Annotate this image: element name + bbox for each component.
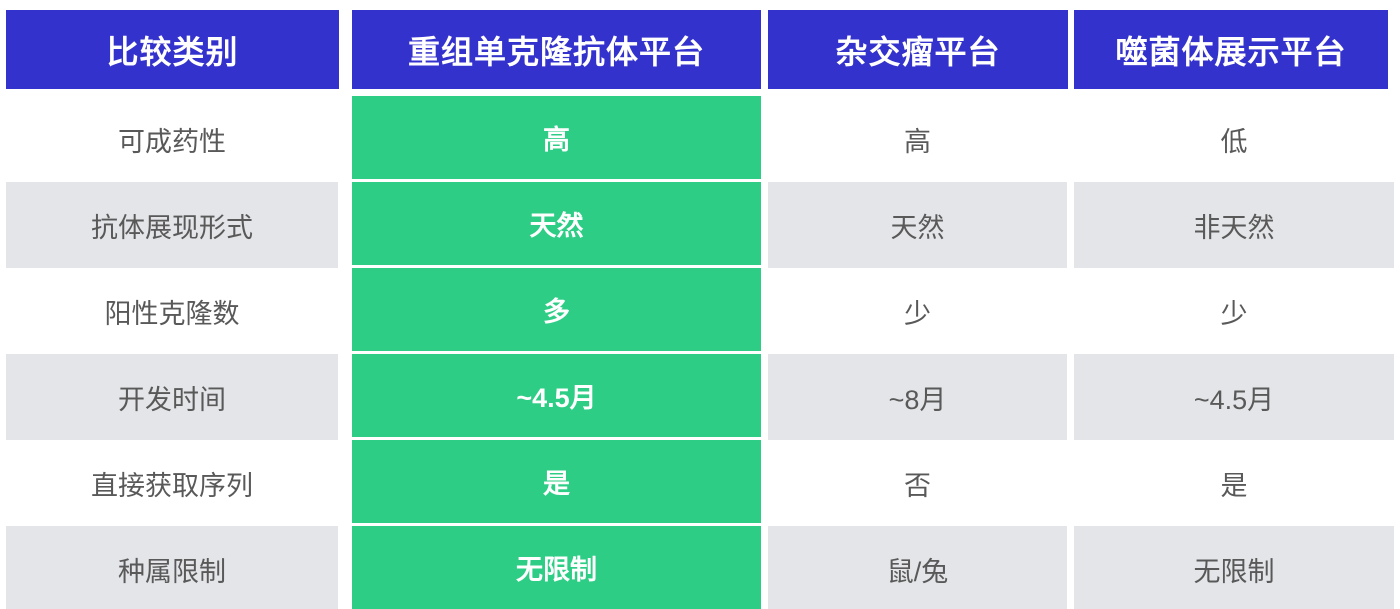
row-label-cell: 种属限制 [6,526,345,609]
row-label-cell: 可成药性 [6,96,345,182]
column-header-category: 比较类别 [6,10,345,89]
table-cell-recomb: 是 [345,440,768,526]
table-cell-phage: 少 [1074,268,1394,354]
table-cell-recomb: 无限制 [345,526,768,609]
column-header-hybridoma: 杂交瘤平台 [768,10,1074,89]
table-cell-recomb: 高 [345,96,768,182]
table-cell-recomb: 天然 [345,182,768,268]
row-label-cell: 阳性克隆数 [6,268,345,354]
table-cell-recomb: 多 [345,268,768,354]
table-cell-recomb: ~4.5月 [345,354,768,440]
table-cell-phage: 无限制 [1074,526,1394,609]
comparison-table: 比较类别重组单克隆抗体平台杂交瘤平台噬菌体展示平台可成药性高高低抗体展现形式天然… [6,10,1394,609]
table-cell-hybridoma: 少 [768,268,1074,354]
table-cell-hybridoma: 天然 [768,182,1074,268]
table-cell-phage: 是 [1074,440,1394,526]
column-header-phage: 噬菌体展示平台 [1074,10,1394,89]
table-cell-hybridoma: 鼠/兔 [768,526,1074,609]
table-cell-hybridoma: 高 [768,96,1074,182]
table-cell-phage: ~4.5月 [1074,354,1394,440]
row-label-cell: 直接获取序列 [6,440,345,526]
row-label-cell: 抗体展现形式 [6,182,345,268]
column-header-recomb: 重组单克隆抗体平台 [345,10,768,89]
table-cell-hybridoma: ~8月 [768,354,1074,440]
table-cell-phage: 低 [1074,96,1394,182]
comparison-table-container: 比较类别重组单克隆抗体平台杂交瘤平台噬菌体展示平台可成药性高高低抗体展现形式天然… [0,0,1400,609]
table-cell-hybridoma: 否 [768,440,1074,526]
table-cell-phage: 非天然 [1074,182,1394,268]
row-label-cell: 开发时间 [6,354,345,440]
